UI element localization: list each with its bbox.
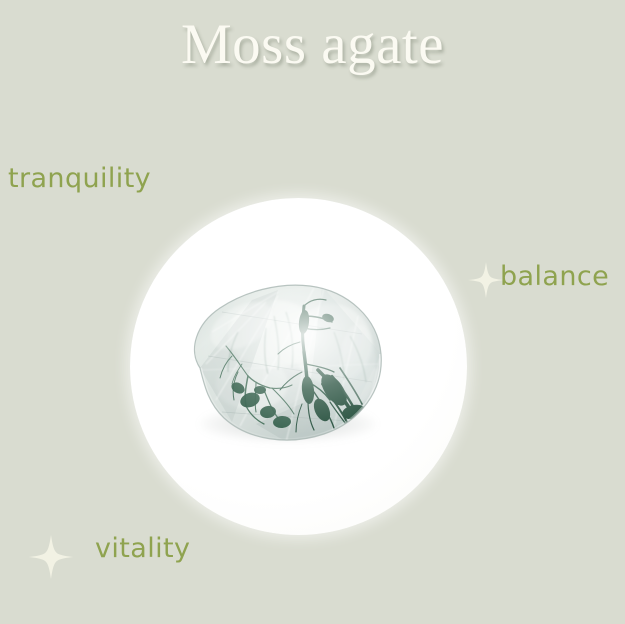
gemstone-container bbox=[182, 272, 394, 452]
moss-agate-poster: Moss agate bbox=[0, 0, 625, 624]
moss-agate-gem-icon bbox=[182, 272, 394, 452]
page-title: Moss agate bbox=[0, 14, 625, 77]
keyword-tranquility: tranquility bbox=[8, 163, 151, 194]
keyword-balance: balance bbox=[500, 261, 609, 292]
keyword-vitality: vitality bbox=[95, 533, 190, 564]
four-point-sparkle-icon-vitality bbox=[27, 533, 75, 581]
